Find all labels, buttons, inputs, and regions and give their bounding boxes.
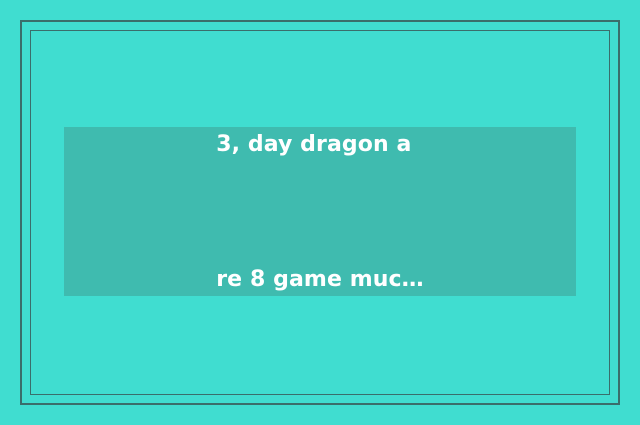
placeholder-text-line-2: re 8 game muc… — [216, 257, 424, 302]
placeholder-text-block: 3, day dragon a re 8 game muc… — [216, 32, 424, 392]
placeholder-card-canvas: 3, day dragon a re 8 game muc… — [0, 0, 640, 425]
placeholder-text-line-1: 3, day dragon a — [216, 122, 424, 167]
placeholder-text-panel: 3, day dragon a re 8 game muc… — [64, 127, 576, 296]
